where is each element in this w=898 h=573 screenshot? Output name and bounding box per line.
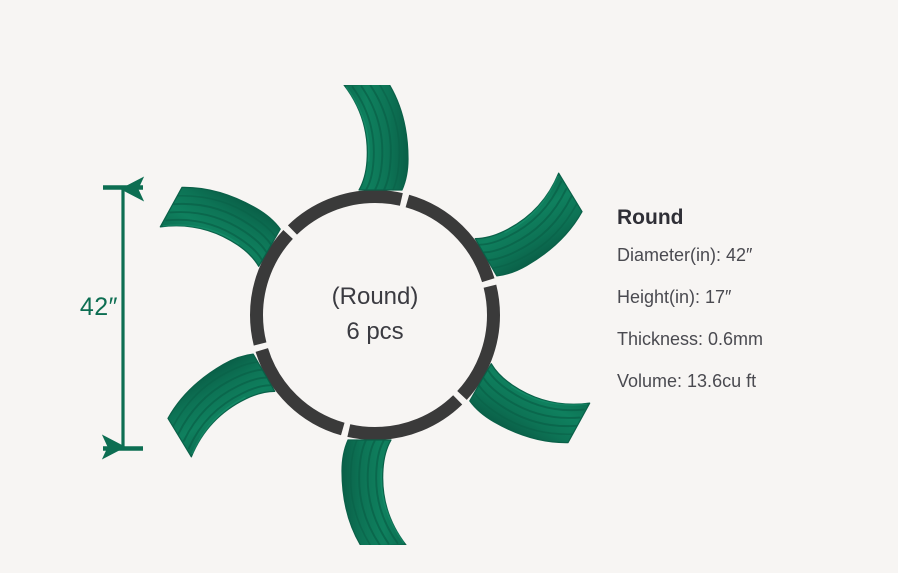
ring-dashed-circle <box>257 197 494 434</box>
spec-title: Round <box>617 206 877 229</box>
ring-segments <box>257 197 494 434</box>
spec-row-height: Height(in): 17″ <box>617 288 877 306</box>
dimension-label: 42″ <box>60 295 118 320</box>
liner-pieces <box>158 85 591 545</box>
spec-panel: Round Diameter(in): 42″ Height(in): 17″ … <box>617 206 877 390</box>
product-diagram-canvas: 42″ <box>0 0 898 573</box>
liner-piece <box>342 440 406 545</box>
spec-row-diameter: Diameter(in): 42″ <box>617 246 877 264</box>
spec-row-volume: Volume: 13.6cu ft <box>617 372 877 390</box>
liner-piece <box>344 85 408 190</box>
round-liner-diagram <box>135 85 615 545</box>
spec-row-thickness: Thickness: 0.6mm <box>617 330 877 348</box>
